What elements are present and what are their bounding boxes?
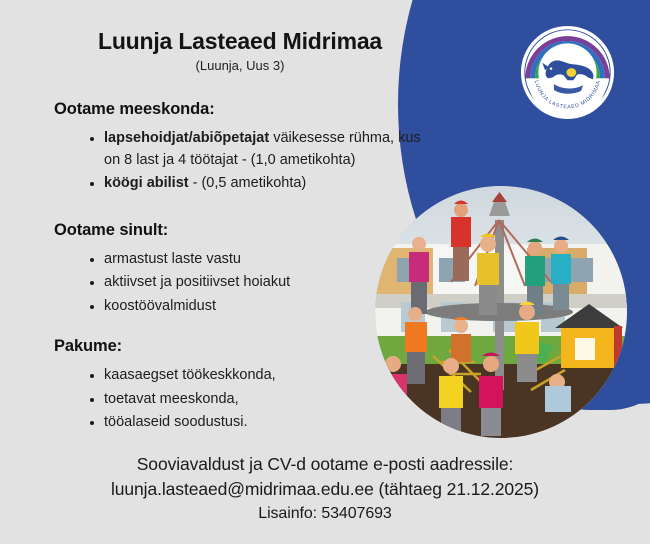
section-ootame-sinult: Ootame sinult: armastust laste vastu akt…: [0, 221, 430, 318]
job-advert-poster: LUUNJA LASTEAED MIDRIMAA: [0, 0, 650, 544]
list-item-text: kaasaegset töökeskkonda,: [104, 367, 276, 383]
list-item-text: aktiivset ja positiivset hoiakut: [104, 274, 290, 290]
list-item-text: - (0,5 ametikohta): [189, 175, 307, 191]
list-item: tööalaseid soodustusi.: [0, 412, 430, 434]
list-item: kaasaegset töökeskkonda,: [0, 365, 430, 387]
page-subtitle: (Luunja, Uus 3): [0, 58, 480, 73]
footer-instruction: Sooviavaldust ja CV-d ootame e-posti aad…: [0, 452, 650, 477]
list-item: köögi abilist - (0,5 ametikohta): [0, 173, 430, 195]
section-heading: Pakume:: [54, 337, 430, 356]
list-item: toetavat meeskonda,: [0, 389, 430, 411]
list-item-text: koostöövalmidust: [104, 298, 216, 314]
bullet-list: armastust laste vastu aktiivset ja posit…: [0, 249, 430, 318]
list-item: armastust laste vastu: [0, 249, 430, 271]
bullet-list: kaasaegset töökeskkonda, toetavat meesko…: [0, 365, 430, 434]
list-item-text: toetavat meeskonda,: [104, 391, 239, 407]
kindergarten-logo: LUUNJA LASTEAED MIDRIMAA: [519, 24, 616, 121]
list-item-bold: köögi abilist: [104, 175, 189, 191]
bullet-list: lapsehoidjat/abiõpetajat väikesesse rühm…: [0, 128, 430, 195]
page-title: Luunja Lasteaed Midrimaa: [0, 28, 480, 55]
list-item: aktiivset ja positiivset hoiakut: [0, 272, 430, 294]
list-item-bold: lapsehoidjat/abiõpetajat: [104, 130, 269, 146]
list-item: koostöövalmidust: [0, 296, 430, 318]
footer-email-deadline[interactable]: luunja.lasteaed@midrimaa.edu.ee (tähtaeg…: [0, 477, 650, 502]
section-heading: Ootame meeskonda:: [54, 100, 430, 119]
list-item-text: armastust laste vastu: [104, 251, 241, 267]
spacer: [0, 199, 430, 221]
list-item: lapsehoidjat/abiõpetajat väikesesse rühm…: [0, 128, 430, 171]
spacer: [0, 321, 430, 337]
section-heading: Ootame sinult:: [54, 221, 430, 240]
body-content: Ootame meeskonda: lapsehoidjat/abiõpetaj…: [0, 100, 430, 438]
contact-footer: Sooviavaldust ja CV-d ootame e-posti aad…: [0, 452, 650, 526]
list-item-text: tööalaseid soodustusi.: [104, 414, 248, 430]
footer-phone: Lisainfo: 53407693: [0, 502, 650, 526]
section-pakume: Pakume: kaasaegset töökeskkonda, toetava…: [0, 337, 430, 434]
section-ootame-meeskonda: Ootame meeskonda: lapsehoidjat/abiõpetaj…: [0, 100, 430, 195]
